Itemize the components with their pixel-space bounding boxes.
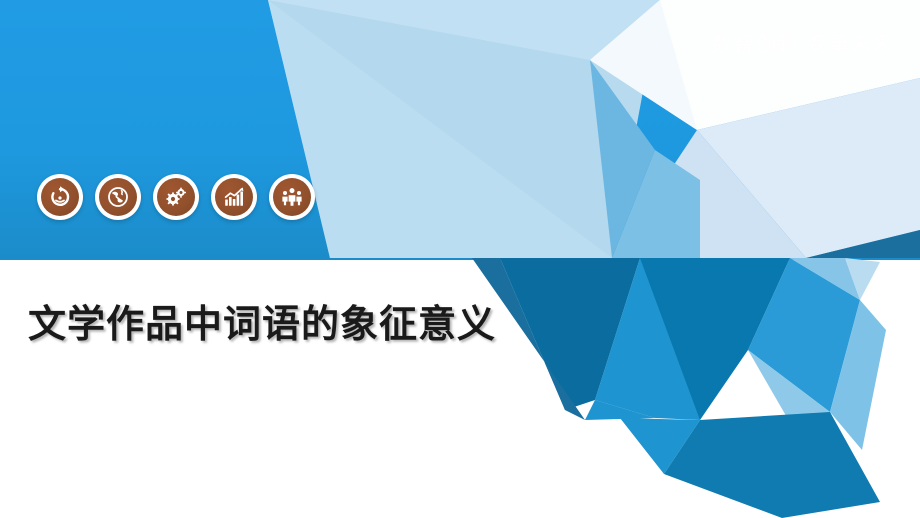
icon-row — [37, 174, 315, 220]
icon-badge-people[interactable] — [269, 174, 315, 220]
page-title: 文学作品中词语的象征意义 — [28, 293, 496, 348]
presentation-slide: 数智创新 变革未来 — [0, 0, 920, 518]
tagline-text: 数智创新 变革未来 — [711, 28, 894, 58]
globe-icon — [99, 178, 137, 216]
icon-badge-gears[interactable] — [153, 174, 199, 220]
recycle-arrows-icon — [41, 178, 79, 216]
icon-badge-globe[interactable] — [95, 174, 141, 220]
polygon-artwork — [0, 0, 920, 518]
people-group-icon — [273, 178, 311, 216]
gears-icon — [157, 178, 195, 216]
icon-badge-chart[interactable] — [211, 174, 257, 220]
icon-badge-recycle[interactable] — [37, 174, 83, 220]
bar-chart-growth-icon — [215, 178, 253, 216]
